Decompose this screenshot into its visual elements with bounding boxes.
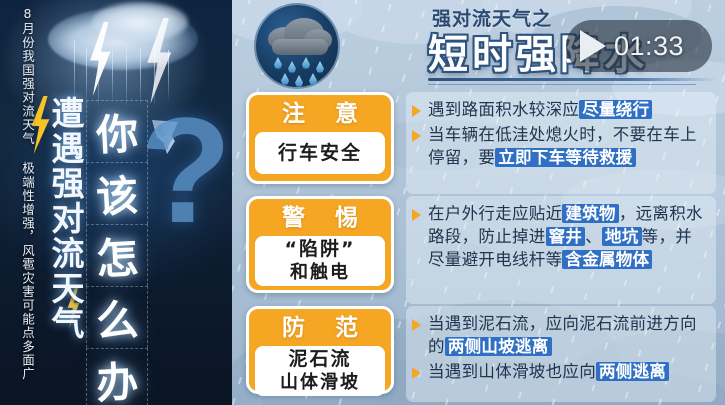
brush-char: 么 (94, 286, 139, 349)
advice-row: 注 意 行车安全 遇到路面积水较深应尽量绕行 当车辆在低洼处熄火时，不要在车上停… (246, 92, 716, 194)
tips-panel: 遇到路面积水较深应尽量绕行 当车辆在低洼处熄火时，不要在车上停留，要立即下车等待… (406, 92, 716, 194)
card-subject: 行车安全 (255, 132, 385, 174)
screenshot-stage: ? 你 该 怎 么 办 遭遇强对流天气 8月份我国强对流天气 极端性增强，风雹灾… (0, 0, 725, 405)
highlight: 两侧逃离 (596, 362, 669, 381)
advice-card: 警 惕 “陷阱” 和触电 (246, 196, 394, 293)
tips-panel: 在户外行走应贴近建筑物，远离积水路段，防止掉进窨井、地坑等，并尽量避开电线杆等含… (406, 196, 716, 304)
highlight: 尽量绕行 (579, 100, 652, 119)
poster-caption: 8月份我国强对流天气 极端性增强，风雹灾害可能点多面广 (6, 6, 36, 401)
bullet-triangle-icon (412, 319, 421, 331)
tip-text: 当遇到泥石流，应向泥石流前进方向的两侧山坡逃离 (428, 312, 708, 358)
highlight: 建筑物 (562, 204, 618, 223)
bullet-triangle-icon (412, 367, 421, 379)
card-subject-line1: 泥石流 (288, 348, 351, 371)
highlight: 立即下车等待救援 (495, 148, 635, 167)
highlight: 含金属物体 (562, 250, 652, 269)
brush-char: 办 (94, 348, 139, 405)
card-subject-line2: 山体滑坡 (280, 371, 360, 394)
card-heading: 防 范 (271, 314, 369, 342)
tip-item: 当车辆在低洼处熄火时，不要在车上停留，要立即下车等待救援 (410, 123, 708, 169)
card-subject: 泥石流 山体滑坡 (255, 346, 385, 396)
card-heading: 警 惕 (271, 204, 369, 232)
tip-text: 当遇到山体滑坡也应向两侧逃离 (428, 360, 669, 383)
card-subject-line2: 和触电 (290, 261, 350, 284)
poster-panel: ? 你 该 怎 么 办 遭遇强对流天气 8月份我国强对流天气 极端性增强，风雹灾… (0, 0, 232, 405)
bullet-triangle-icon (412, 130, 421, 142)
brush-char: 该 (94, 162, 139, 225)
bullet-triangle-icon (412, 105, 421, 117)
advice-card: 注 意 行车安全 (246, 92, 394, 184)
brush-char: 怎 (94, 224, 139, 287)
video-header: 强对流天气之 短时强降水 01:33 (232, 0, 725, 92)
header-divider (428, 78, 718, 81)
card-heading: 注 意 (271, 100, 369, 128)
tip-text: 当车辆在低洼处熄火时，不要在车上停留，要立即下车等待救援 (428, 123, 708, 169)
play-icon[interactable] (580, 30, 606, 62)
tip-item: 遇到路面积水较深应尽量绕行 (410, 98, 708, 121)
card-subject: “陷阱” 和触电 (255, 236, 385, 286)
card-subject-line1: “陷阱” (285, 238, 356, 261)
advice-row: 防 范 泥石流 山体滑坡 当遇到泥石流，应向泥石流前进方向的两侧山坡逃离 当遇到… (246, 306, 716, 402)
tip-item: 当遇到泥石流，应向泥石流前进方向的两侧山坡逃离 (410, 312, 708, 358)
tip-text: 在户外行走应贴近建筑物，远离积水路段，防止掉进窨井、地坑等，并尽量避开电线杆等含… (428, 202, 708, 271)
video-timecode: 01:33 (614, 31, 684, 62)
advice-card: 防 范 泥石流 山体滑坡 (246, 306, 394, 394)
tip-item: 当遇到山体滑坡也应向两侧逃离 (410, 360, 708, 383)
card-subject-line1: 行车安全 (278, 142, 362, 165)
brush-character-grid: 你 该 怎 么 办 (86, 100, 148, 394)
rain-cloud-icon (254, 3, 340, 89)
video-play-control[interactable]: 01:33 (566, 20, 712, 72)
highlight: 窨井 (546, 227, 586, 246)
advice-row: 警 惕 “陷阱” 和触电 在户外行走应贴近建筑物，远离积水路段，防止掉进窨井、地… (246, 196, 716, 304)
highlight: 两侧山坡逃离 (445, 337, 552, 356)
tips-panel: 当遇到泥石流，应向泥石流前进方向的两侧山坡逃离 当遇到山体滑坡也应向两侧逃离 (406, 306, 716, 402)
tip-text: 遇到路面积水较深应尽量绕行 (428, 98, 652, 121)
highlight: 地坑 (602, 227, 642, 246)
brush-char: 你 (94, 100, 139, 163)
tip-item: 在户外行走应贴近建筑物，远离积水路段，防止掉进窨井、地坑等，并尽量避开电线杆等含… (410, 202, 708, 271)
header-divider-thin (428, 84, 696, 85)
bullet-triangle-icon (412, 209, 421, 221)
poster-headline: 遭遇强对流天气 (38, 96, 84, 396)
question-mark-graphic: ? (140, 110, 232, 230)
